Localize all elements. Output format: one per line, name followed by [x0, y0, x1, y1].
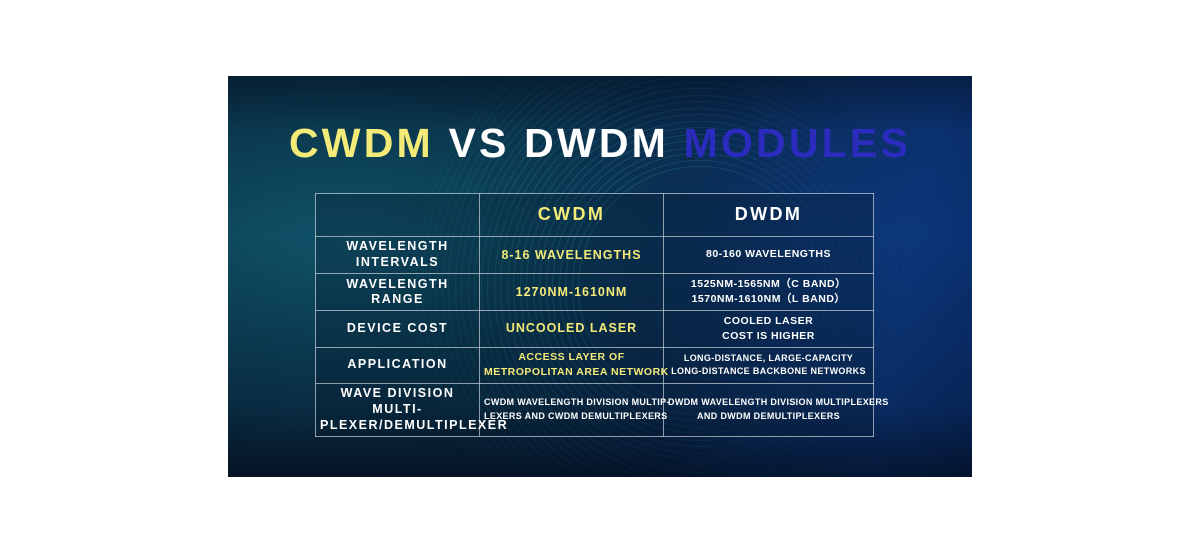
decorative-arc: [670, 438, 972, 477]
row-cwdm-line1: 8-16 WAVELENGTHS: [484, 247, 659, 264]
title-part-vs: VS: [448, 120, 509, 166]
row-label-line1: WAVELENGTH RANGE: [320, 277, 475, 308]
row-dwdm-line1: DWDM WAVELENGTH DIVISION MULTIPLEXERS: [668, 396, 869, 410]
page-root: CWDM VS DWDM MODULES CWDM: [0, 0, 1200, 550]
header-label-dwdm: DWDM: [735, 204, 803, 224]
row-cwdm-line2: METROPOLITAN AREA NETWORK: [484, 365, 659, 380]
row-label-line2: PLEXER/DEMULTIPLEXER: [320, 418, 475, 434]
row-cwdm-line1: 1270NM-1610NM: [484, 284, 659, 301]
table-row: WAVELENGTH INTERVALS 8-16 WAVELENGTHS 80…: [316, 237, 874, 274]
row-label-line1: APPLICATION: [320, 357, 475, 373]
table-row: WAVE DIVISION MULTI- PLEXER/DEMULTIPLEXE…: [316, 383, 874, 436]
row-cwdm-cell: ACCESS LAYER OF METROPOLITAN AREA NETWOR…: [480, 347, 664, 383]
title-part-dwdm: DWDM: [524, 120, 669, 166]
page-title: CWDM VS DWDM MODULES: [228, 123, 972, 164]
decorative-arc: [700, 468, 972, 477]
decorative-arc: [694, 462, 972, 477]
table-row: WAVELENGTH RANGE 1270NM-1610NM 1525NM-15…: [316, 274, 874, 311]
header-cell-blank: [316, 194, 480, 237]
row-dwdm-cell: LONG-DISTANCE, LARGE-CAPACITY LONG-DISTA…: [664, 347, 874, 383]
row-dwdm-line1: LONG-DISTANCE, LARGE-CAPACITY: [668, 352, 869, 366]
decorative-arc: [682, 450, 972, 477]
row-cwdm-cell: 8-16 WAVELENGTHS: [480, 237, 664, 274]
row-label-cell: WAVELENGTH RANGE: [316, 274, 480, 311]
row-dwdm-line2: COST IS HIGHER: [668, 329, 869, 344]
row-cwdm-line1: UNCOOLED LASER: [484, 320, 659, 337]
table-header-row: CWDM DWDM: [316, 194, 874, 237]
decorative-arc: [664, 432, 972, 477]
row-cwdm-cell: 1270NM-1610NM: [480, 274, 664, 311]
row-dwdm-cell: DWDM WAVELENGTH DIVISION MULTIPLEXERS AN…: [664, 383, 874, 436]
row-label-cell: APPLICATION: [316, 347, 480, 383]
header-label-cwdm: CWDM: [538, 204, 606, 224]
row-dwdm-line2: AND DWDM DEMULTIPLEXERS: [668, 410, 869, 424]
row-label-line2: INTERVALS: [320, 255, 475, 271]
decorative-arc: [688, 456, 972, 477]
table-row: APPLICATION ACCESS LAYER OF METROPOLITAN…: [316, 347, 874, 383]
table-row: DEVICE COST UNCOOLED LASER COOLED LASER …: [316, 311, 874, 347]
comparison-table-wrapper: CWDM DWDM WAVELENGTH INTERVALS 8: [315, 193, 873, 437]
comparison-table: CWDM DWDM WAVELENGTH INTERVALS 8: [315, 193, 874, 437]
decorative-arc: [706, 474, 972, 477]
title-part-cwdm: CWDM: [289, 120, 434, 166]
row-dwdm-cell: COOLED LASER COST IS HIGHER: [664, 311, 874, 347]
decorative-arc: [676, 444, 972, 477]
row-dwdm-line1: 1525NM-1565NM（C BAND）: [668, 277, 869, 292]
row-label-line1: WAVELENGTH: [320, 239, 475, 255]
title-part-modules: MODULES: [684, 120, 911, 166]
row-label-cell: DEVICE COST: [316, 311, 480, 347]
row-cwdm-line2: LEXERS AND CWDM DEMULTIPLEXERS: [484, 410, 659, 424]
row-dwdm-line2: 1570NM-1610NM（L BAND）: [668, 292, 869, 307]
header-cell-dwdm: DWDM: [664, 194, 874, 237]
row-label-cell: WAVE DIVISION MULTI- PLEXER/DEMULTIPLEXE…: [316, 383, 480, 436]
row-dwdm-line1: COOLED LASER: [668, 314, 869, 329]
row-label-cell: WAVELENGTH INTERVALS: [316, 237, 480, 274]
row-dwdm-line2: LONG-DISTANCE BACKBONE NETWORKS: [668, 365, 869, 379]
slide-panel: CWDM VS DWDM MODULES CWDM: [228, 76, 972, 477]
row-cwdm-line1: CWDM WAVELENGTH DIVISION MULTIP-: [484, 396, 659, 410]
header-cell-cwdm: CWDM: [480, 194, 664, 237]
row-dwdm-line1: 80-160 WAVELENGTHS: [668, 247, 869, 262]
row-cwdm-cell: UNCOOLED LASER: [480, 311, 664, 347]
row-cwdm-line1: ACCESS LAYER OF: [484, 350, 659, 365]
row-dwdm-cell: 80-160 WAVELENGTHS: [664, 237, 874, 274]
row-label-line1: DEVICE COST: [320, 321, 475, 337]
row-dwdm-cell: 1525NM-1565NM（C BAND） 1570NM-1610NM（L BA…: [664, 274, 874, 311]
row-label-line1: WAVE DIVISION MULTI-: [320, 386, 475, 417]
